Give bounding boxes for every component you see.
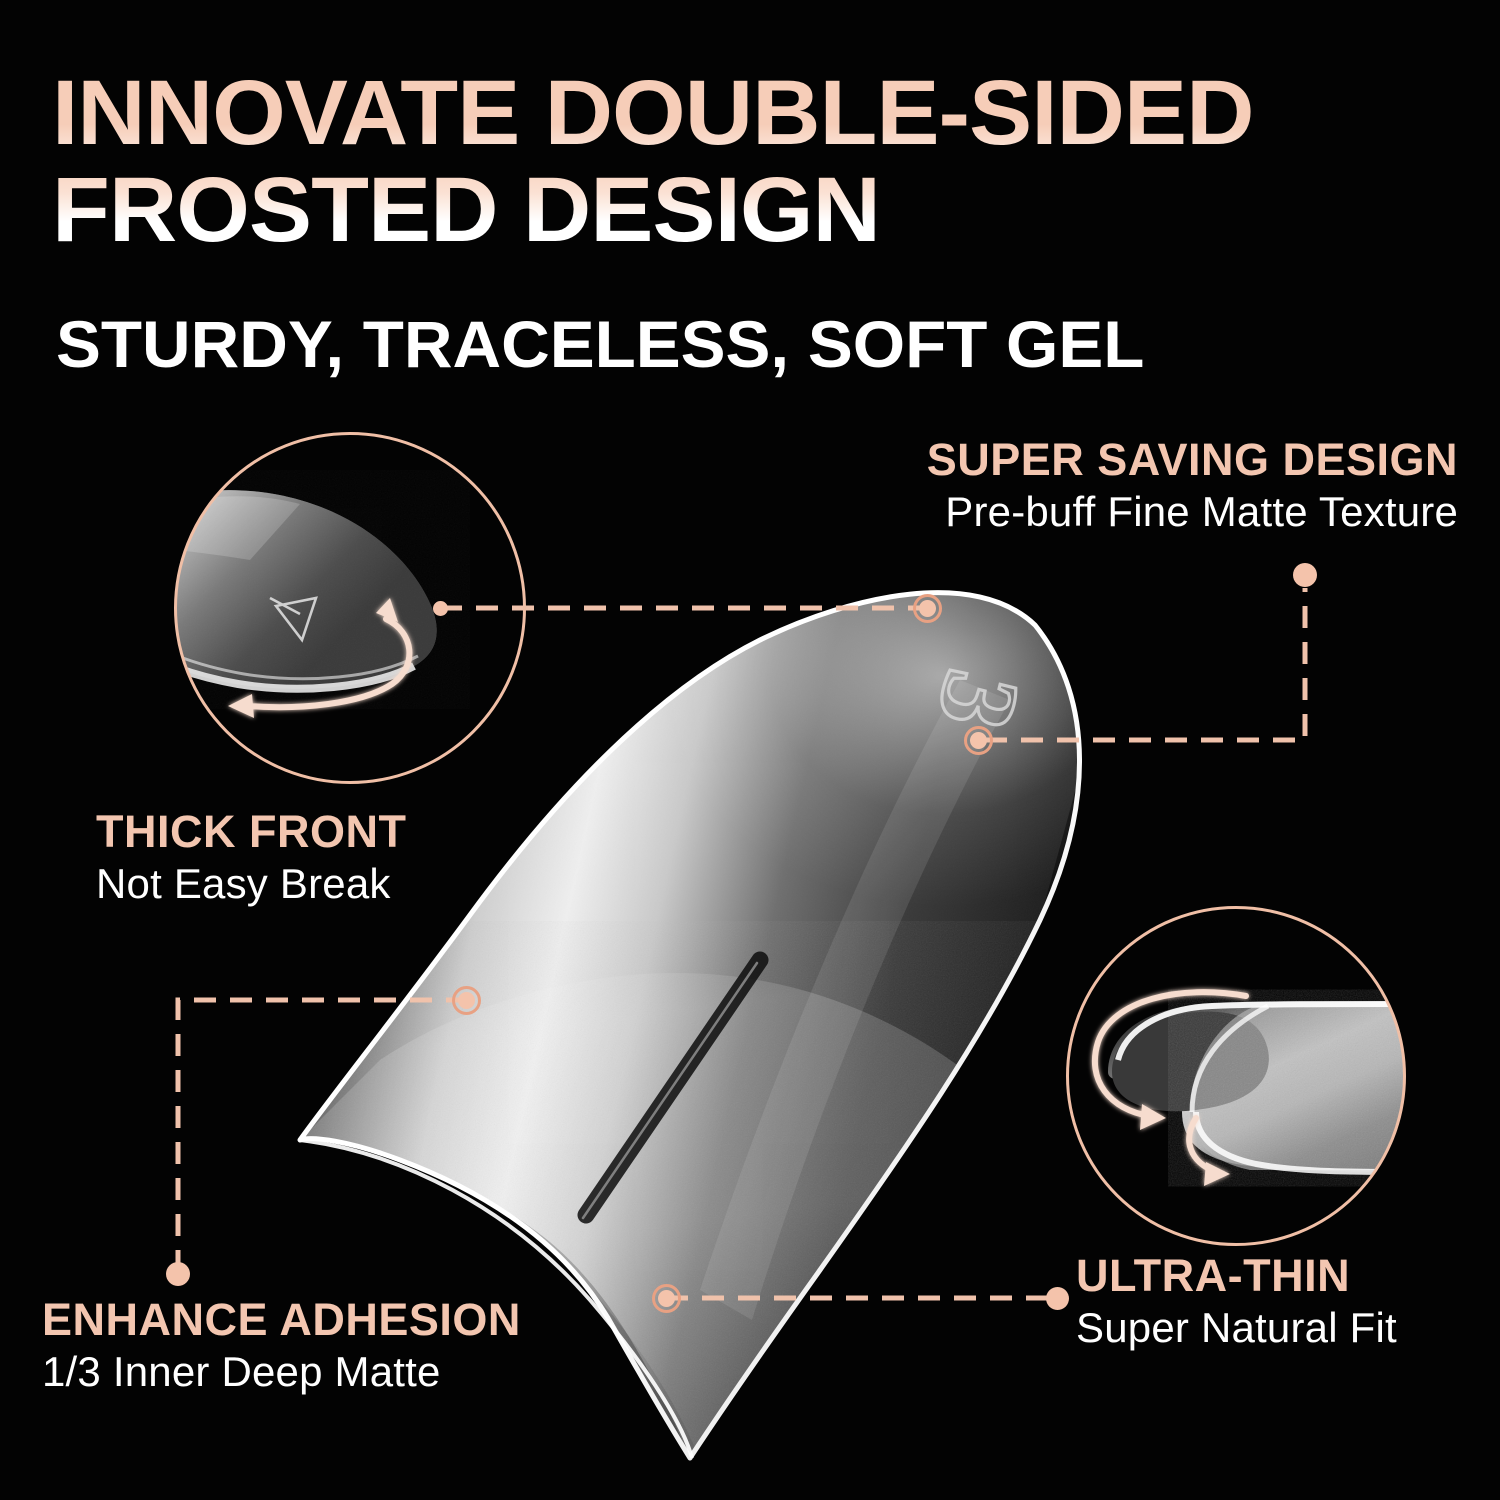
callout-enhance-adhesion-title: ENHANCE ADHESION [42,1296,521,1344]
magnifier-circle-ultra-thin [1066,906,1406,1246]
callout-super-saving-title: SUPER SAVING DESIGN [540,436,1458,484]
connector-dot-nail-left [458,992,475,1009]
infographic-canvas: INNOVATE DOUBLE-SIDED FROSTED DESIGN STU… [0,0,1500,1500]
callout-thick-front-subtitle: Not Easy Break [96,860,406,907]
callout-enhance-adhesion: ENHANCE ADHESION 1/3 Inner Deep Matte [42,1296,521,1395]
headline-block: INNOVATE DOUBLE-SIDED FROSTED DESIGN [52,68,1472,256]
connector-dot-super-saving [1293,563,1317,587]
connector-dot-enhance-adhesion [166,1262,190,1286]
callout-enhance-adhesion-subtitle: 1/3 Inner Deep Matte [42,1348,521,1395]
headline-line-2: FROSTED DESIGN [52,165,1500,256]
magnifier-circle-thick-front [174,432,526,784]
connector-enhance-adhesion [178,1000,466,1272]
callout-super-saving-design: SUPER SAVING DESIGN Pre-buff Fine Matte … [540,436,1458,535]
callout-ultra-thin-title: ULTRA-THIN [1076,1252,1397,1300]
headline-line-1: INNOVATE DOUBLE-SIDED [52,68,1500,159]
connector-dot-magnifier-thick-front [433,601,448,616]
connector-dot-ultra-thin [1046,1287,1069,1310]
callout-ultra-thin-subtitle: Super Natural Fit [1076,1304,1397,1351]
callout-super-saving-subtitle: Pre-buff Fine Matte Texture [540,488,1458,535]
connector-dot-nail-bottom [658,1290,675,1307]
callout-thick-front-title: THICK FRONT [96,808,406,856]
callout-thick-front: THICK FRONT Not Easy Break [96,808,406,907]
connector-super-saving [985,588,1305,740]
connector-dot-size-marking [970,732,987,749]
headline-subhead: STURDY, TRACELESS, SOFT GEL [56,306,1144,382]
connector-dot-nail-top [919,600,936,617]
callout-ultra-thin: ULTRA-THIN Super Natural Fit [1076,1252,1397,1351]
